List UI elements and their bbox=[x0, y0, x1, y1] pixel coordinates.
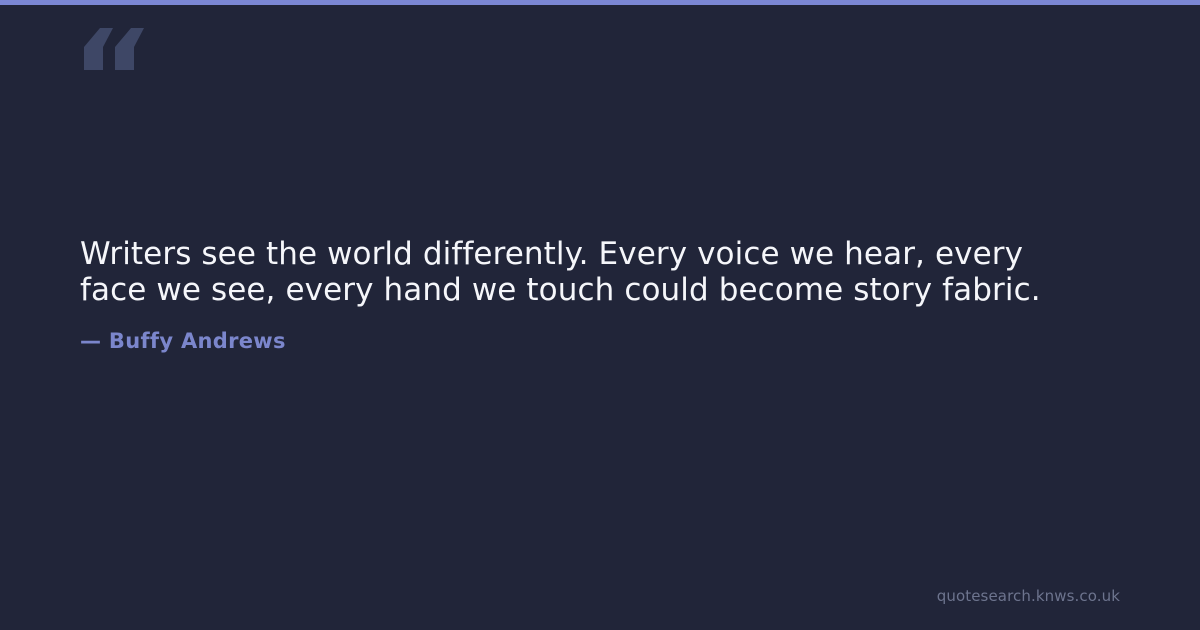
site-watermark: quotesearch.knws.co.uk bbox=[937, 587, 1120, 605]
top-accent-bar bbox=[0, 0, 1200, 5]
quote-text: Writers see the world differently. Every… bbox=[80, 236, 1120, 308]
quotation-mark-icon bbox=[80, 28, 150, 84]
quote-card: Writers see the world differently. Every… bbox=[0, 0, 1200, 630]
quote-attribution: — Buffy Andrews bbox=[80, 308, 1120, 354]
quote-content: Writers see the world differently. Every… bbox=[80, 236, 1120, 354]
quote-line-2: face we see, every hand we touch could b… bbox=[80, 272, 1041, 308]
quote-line-1: Writers see the world differently. Every… bbox=[80, 236, 1023, 272]
